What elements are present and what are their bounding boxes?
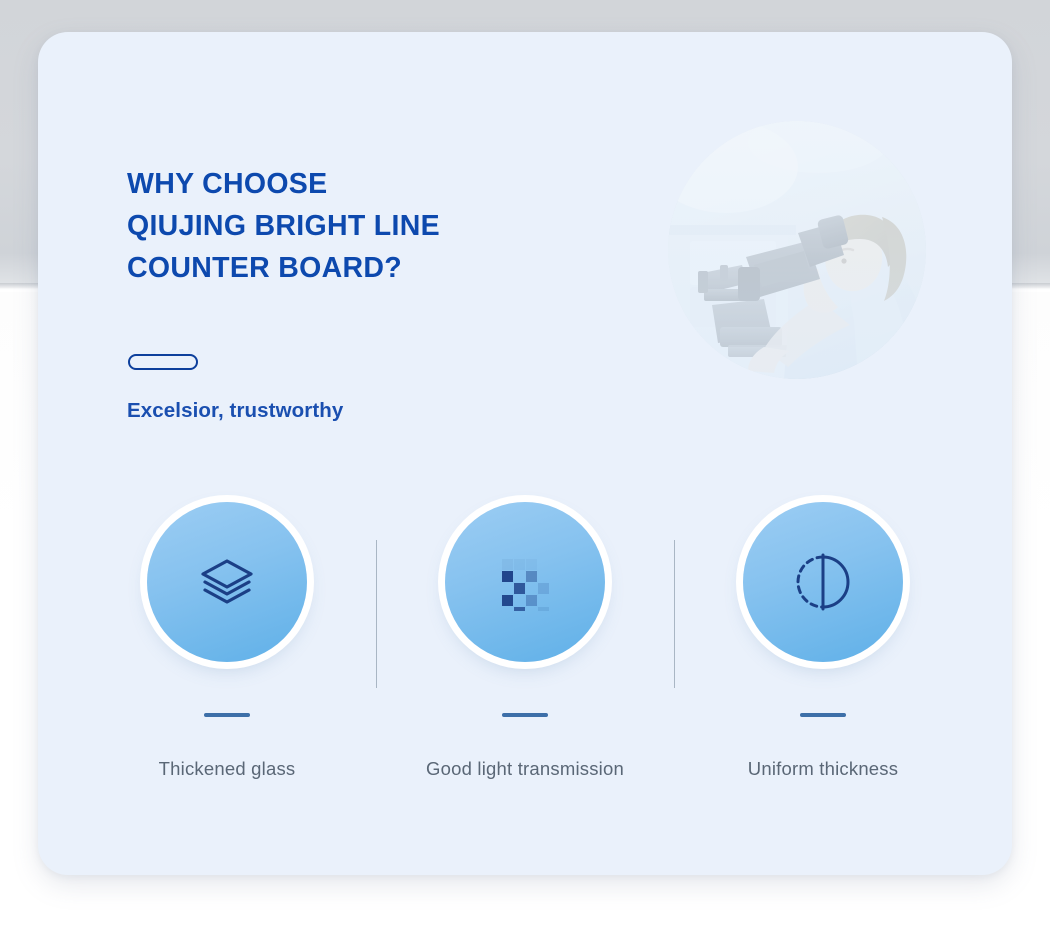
features-row: Thickened glass <box>78 502 972 832</box>
feature-accent-dash <box>800 713 846 717</box>
feature-uniform-thickness[interactable]: Uniform thickness <box>674 502 972 832</box>
feature-good-light-transmission[interactable]: Good light transmission <box>376 502 674 832</box>
feature-label: Thickened glass <box>159 758 296 780</box>
feature-icon-circle <box>445 502 605 662</box>
why-choose-card: WHY CHOOSE QIUJING BRIGHT LINE COUNTER B… <box>38 32 1012 875</box>
feature-icon-circle <box>147 502 307 662</box>
checkerboard-transparency-icon <box>496 553 554 611</box>
page-title: WHY CHOOSE QIUJING BRIGHT LINE COUNTER B… <box>127 163 597 289</box>
microscope-scientist-image <box>668 121 926 379</box>
feature-accent-dash <box>204 713 250 717</box>
feature-icon-circle <box>743 502 903 662</box>
tagline: Excelsior, trustworthy <box>127 399 343 423</box>
hero-photo <box>668 121 926 379</box>
pill-divider <box>128 354 198 370</box>
feature-label: Uniform thickness <box>748 758 898 780</box>
feature-label: Good light transmission <box>426 758 624 780</box>
feature-thickened-glass[interactable]: Thickened glass <box>78 502 376 832</box>
feature-accent-dash <box>502 713 548 717</box>
layers-icon <box>196 551 258 613</box>
contrast-half-circle-icon <box>792 551 854 613</box>
